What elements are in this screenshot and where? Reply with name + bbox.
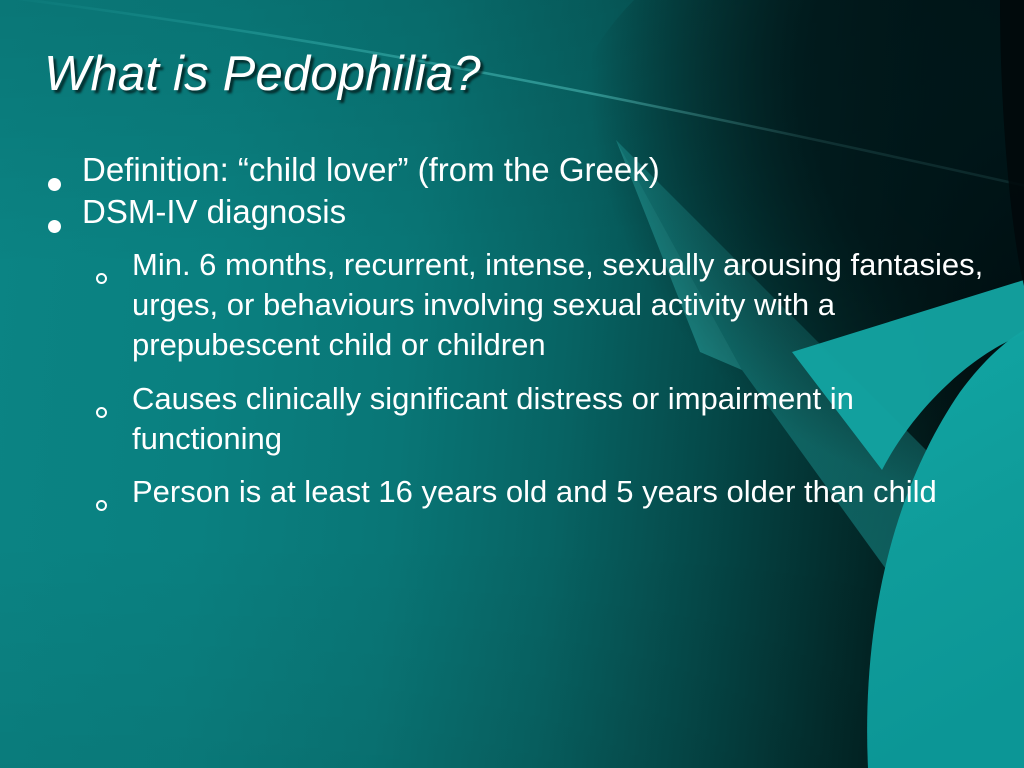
sub-bullet-text: Person is at least 16 years old and 5 ye… <box>132 472 996 512</box>
bullet-item: DSM-IV diagnosis <box>44 192 996 232</box>
bullet-item: Definition: “child lover” (from the Gree… <box>44 150 996 190</box>
slide-body: Definition: “child lover” (from the Gree… <box>44 150 996 513</box>
presentation-slide: What is Pedophilia? Definition: “child l… <box>0 0 1024 768</box>
sub-bullet-text: Causes clinically significant distress o… <box>132 379 996 460</box>
sub-bullet-item: Person is at least 16 years old and 5 ye… <box>44 472 996 512</box>
bullet-text: DSM-IV diagnosis <box>82 192 996 232</box>
sub-bullet-item: Min. 6 months, recurrent, intense, sexua… <box>44 245 996 366</box>
filled-circle-bullet-icon <box>44 192 82 225</box>
sub-bullet-text: Min. 6 months, recurrent, intense, sexua… <box>132 245 996 366</box>
bullet-text: Definition: “child lover” (from the Gree… <box>82 150 996 190</box>
slide-title: What is Pedophilia? <box>44 46 944 102</box>
sub-bullet-item: Causes clinically significant distress o… <box>44 379 996 460</box>
filled-circle-bullet-icon <box>44 150 82 183</box>
hollow-circle-bullet-icon <box>96 379 132 410</box>
hollow-circle-bullet-icon <box>96 472 132 503</box>
hollow-circle-bullet-icon <box>96 245 132 276</box>
